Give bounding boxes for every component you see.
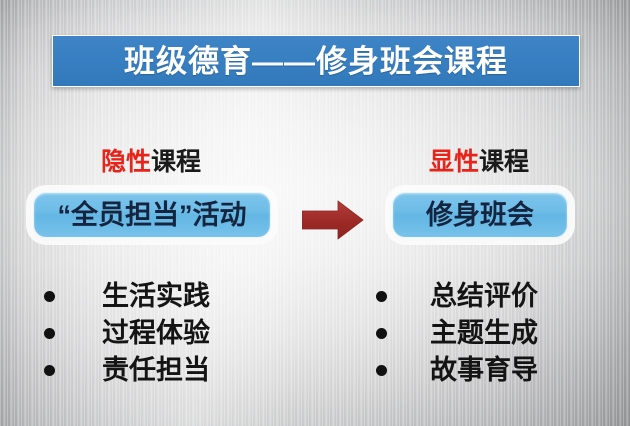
bullet-dot-icon: [44, 365, 55, 376]
list-item: 责任担当: [44, 352, 210, 389]
arrow-right-icon: [302, 200, 364, 240]
left-heading-rest: 课程: [151, 148, 201, 176]
list-item: 生活实践: [44, 278, 210, 315]
list-item-label: 总结评价: [430, 283, 538, 310]
slide-canvas: 班级德育——修身班会课程 隐性课程 “全员担当”活动 生活实践 过程体验 责任担…: [0, 0, 630, 426]
list-item-label: 责任担当: [102, 357, 210, 384]
right-column-heading: 显性课程: [388, 150, 570, 175]
left-bullet-list: 生活实践 过程体验 责任担当: [44, 278, 210, 389]
left-course-box: “全员担当”活动: [33, 192, 271, 238]
list-item-label: 故事育导: [430, 357, 538, 384]
right-heading-highlight: 显性: [429, 148, 479, 176]
list-item-label: 生活实践: [102, 283, 210, 310]
bullet-dot-icon: [376, 291, 387, 302]
right-course-box: 修身班会: [392, 192, 568, 238]
bullet-dot-icon: [376, 365, 387, 376]
list-item: 故事育导: [376, 352, 538, 389]
right-course-box-label: 修身班会: [426, 202, 534, 229]
left-heading-highlight: 隐性: [101, 148, 151, 176]
list-item-label: 过程体验: [102, 320, 210, 347]
left-column-heading: 隐性课程: [33, 150, 269, 175]
list-item: 总结评价: [376, 278, 538, 315]
list-item-label: 主题生成: [430, 320, 538, 347]
bullet-dot-icon: [376, 328, 387, 339]
list-item: 主题生成: [376, 315, 538, 352]
slide-title-bar: 班级德育——修身班会课程: [52, 35, 580, 87]
slide-title: 班级德育——修身班会课程: [124, 46, 508, 77]
list-item: 过程体验: [44, 315, 210, 352]
left-course-box-label: “全员担当”活动: [58, 202, 247, 229]
bullet-dot-icon: [44, 328, 55, 339]
bullet-dot-icon: [44, 291, 55, 302]
right-heading-rest: 课程: [479, 148, 529, 176]
right-bullet-list: 总结评价 主题生成 故事育导: [376, 278, 538, 389]
